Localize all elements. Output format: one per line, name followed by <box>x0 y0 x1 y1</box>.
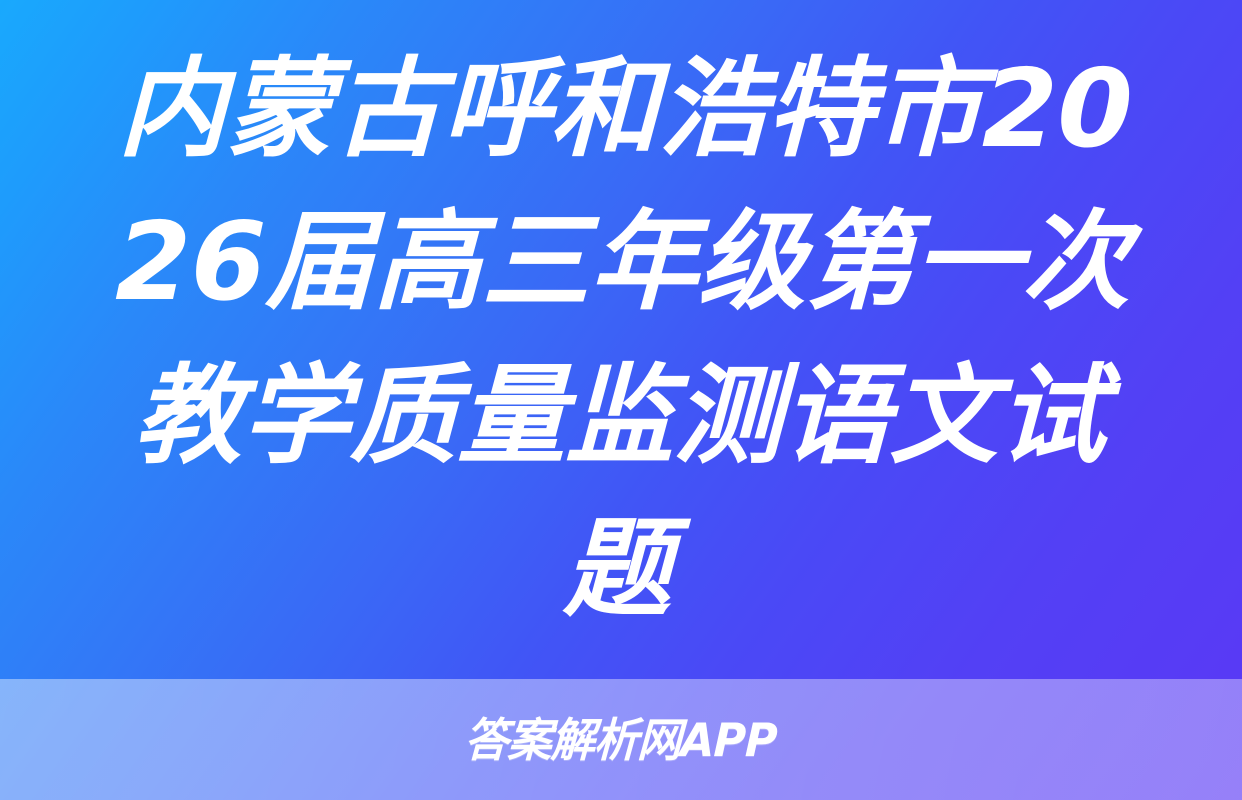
watermark-app-label: 答案解析网APP <box>464 717 778 763</box>
watermark-band: 答案解析网APP <box>0 679 1242 800</box>
poster-background: 内蒙古呼和浩特市2026届高三年级第一次教学质量监测语文试题 答案解析网APP <box>0 0 1242 800</box>
title-block: 内蒙古呼和浩特市2026届高三年级第一次教学质量监测语文试题 <box>0 0 1242 679</box>
page-title: 内蒙古呼和浩特市2026届高三年级第一次教学质量监测语文试题 <box>78 33 1164 646</box>
